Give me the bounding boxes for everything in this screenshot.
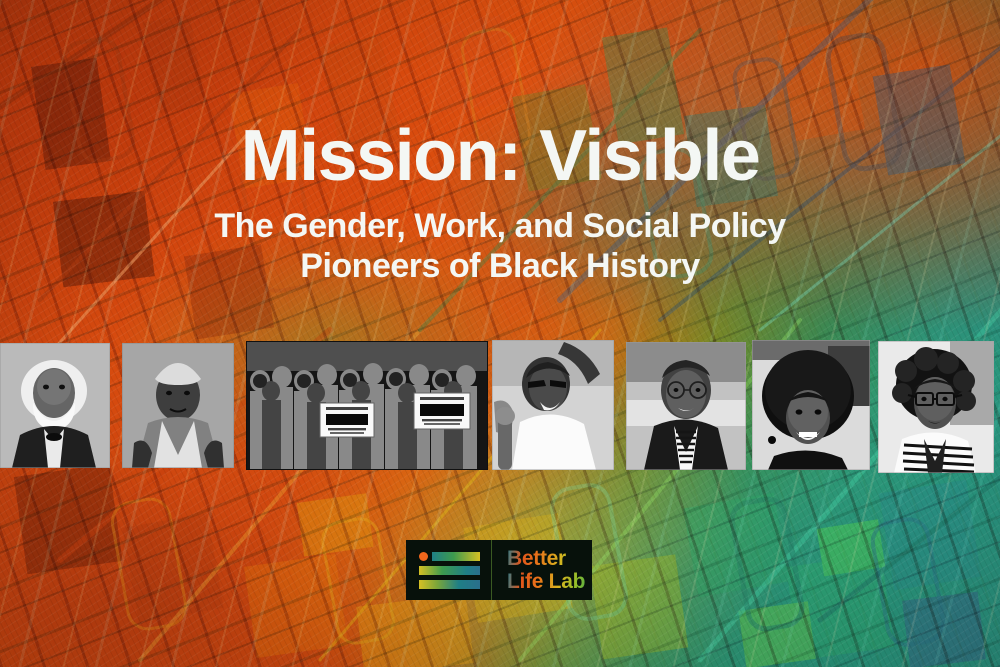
logo-word-line-1: Better xyxy=(507,547,592,570)
logo-mark-row-2 xyxy=(419,566,491,575)
page-subtitle: The Gender, Work, and Social Policy Pion… xyxy=(50,206,950,286)
portrait-ella-baker xyxy=(492,340,614,470)
portrait-shirley-chisholm xyxy=(878,341,994,473)
strike-sign-right xyxy=(414,393,470,429)
portrait-angela-davis xyxy=(752,340,870,470)
logo-word-line-2: Life Lab xyxy=(507,570,592,593)
portrait-strip xyxy=(0,342,1000,474)
logo-mark-row-3 xyxy=(419,580,491,589)
poster-canvas: Mission: Visible The Gender, Work, and S… xyxy=(0,0,1000,667)
logo-dot-icon xyxy=(419,552,428,561)
portrait-rosa-parks xyxy=(626,342,746,470)
page-title: Mission: Visible xyxy=(0,118,1000,194)
subtitle-line-1: The Gender, Work, and Social Policy xyxy=(50,206,950,246)
logo-mark-row-1 xyxy=(419,552,491,561)
headline-block: Mission: Visible The Gender, Work, and S… xyxy=(0,118,1000,286)
portrait-laundry-workers-strike xyxy=(246,341,488,470)
portrait-sojourner-truth xyxy=(122,343,234,468)
portrait-frederick-douglass xyxy=(0,343,110,468)
subtitle-line-2: Pioneers of Black History xyxy=(50,246,950,286)
logo-bar-1 xyxy=(432,552,480,561)
logo-bar-3 xyxy=(419,580,480,589)
logo-wordmark: Better Life Lab xyxy=(492,540,592,600)
logo-bar-2 xyxy=(419,566,480,575)
logo-mark-icon xyxy=(406,540,492,600)
strike-sign-left xyxy=(320,403,374,437)
better-life-lab-logo[interactable]: Better Life Lab xyxy=(406,540,592,600)
